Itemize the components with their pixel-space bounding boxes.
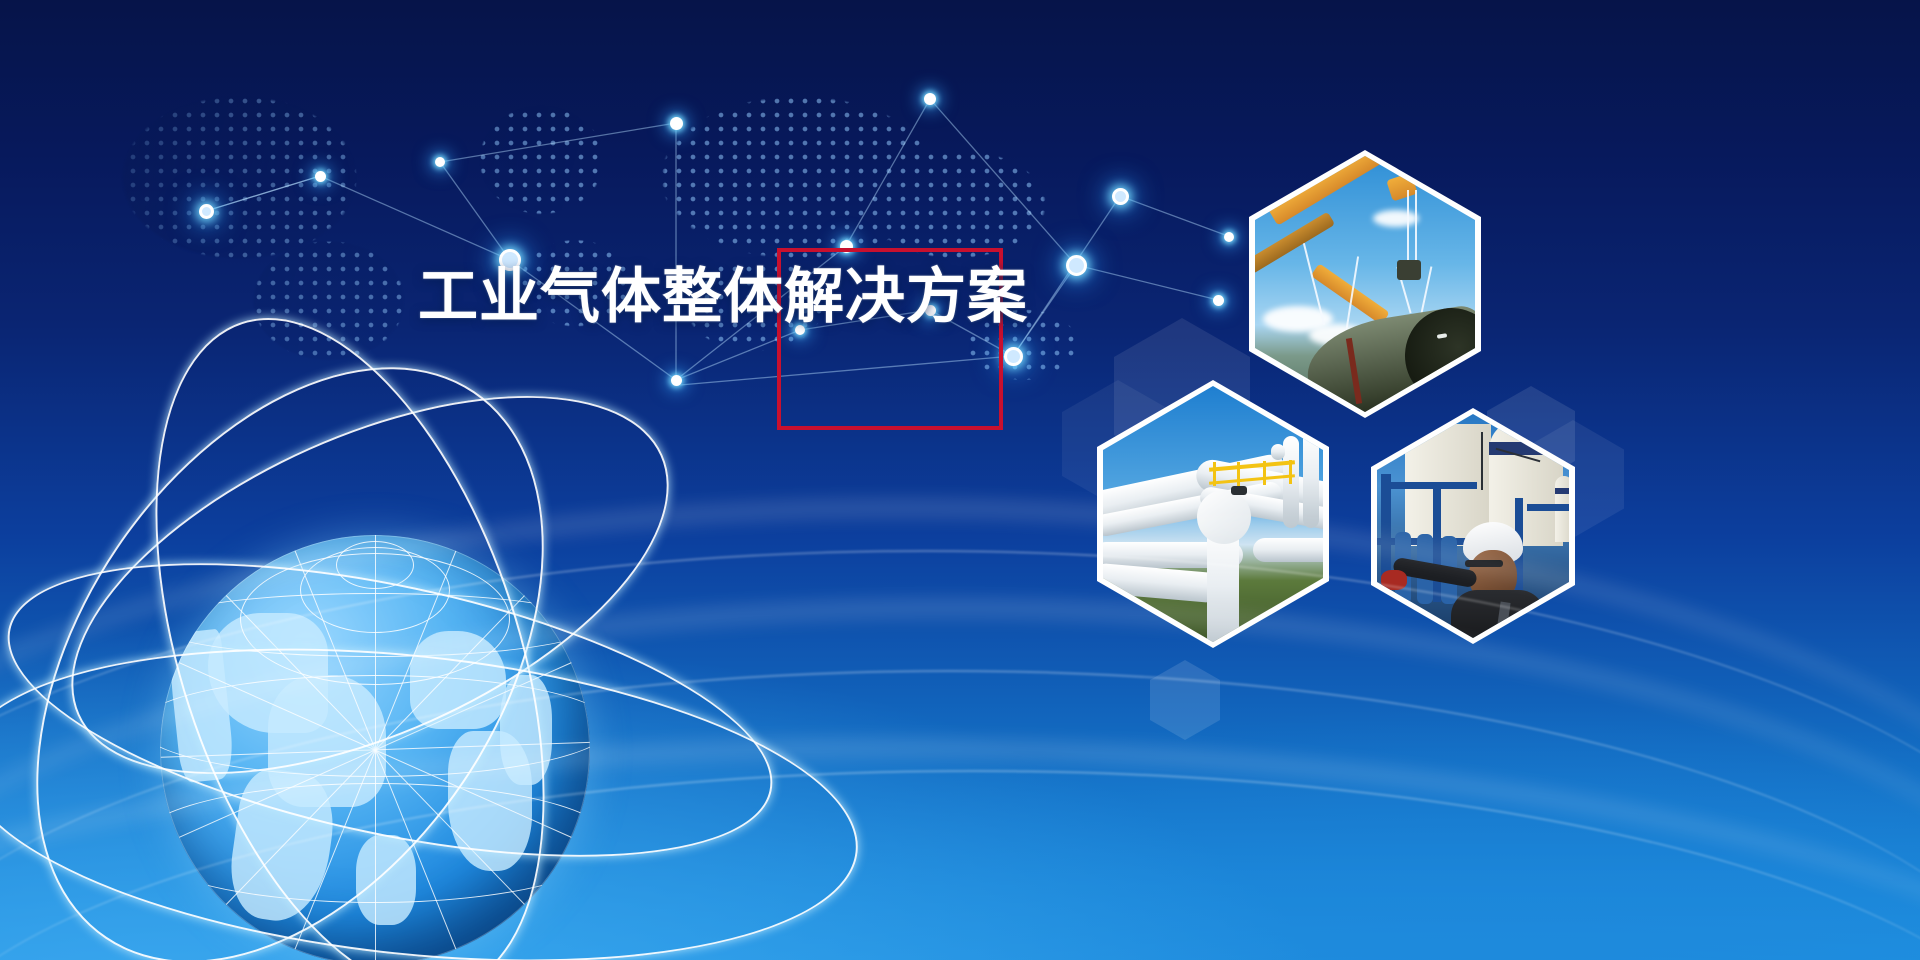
- network-node: [1004, 347, 1023, 366]
- network-node: [671, 375, 682, 386]
- network-node: [1112, 188, 1129, 205]
- network-node: [199, 204, 214, 219]
- network-node: [435, 157, 445, 167]
- network-node: [1224, 232, 1234, 242]
- banner-canvas: 工业气体整体解决方案: [0, 0, 1920, 960]
- network-node: [315, 171, 326, 182]
- network-node: [670, 117, 683, 130]
- network-node: [924, 93, 936, 105]
- page-title: 工业气体整体解决方案: [418, 259, 1028, 335]
- flowing-light-ribbons: [0, 440, 1920, 960]
- network-node: [1213, 295, 1224, 306]
- network-node: [1066, 255, 1087, 276]
